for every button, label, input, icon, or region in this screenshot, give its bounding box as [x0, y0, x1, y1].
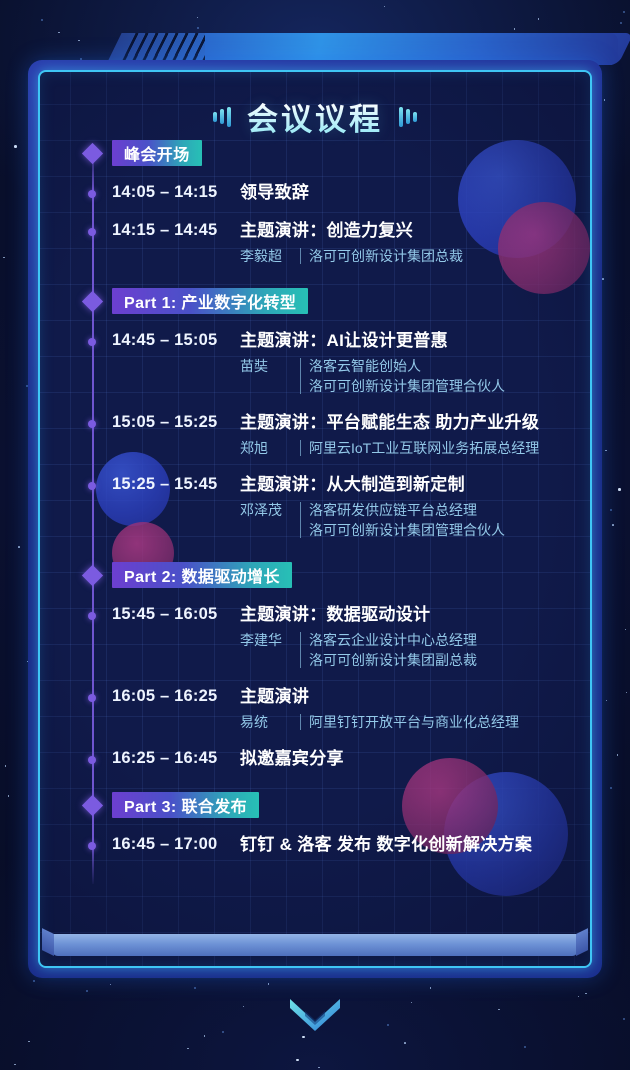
speaker-role: 洛客云智能创始人 — [309, 356, 590, 376]
speaker-role: 洛可可创新设计集团总裁 — [309, 246, 590, 266]
page-title-text: 会议议程 — [247, 94, 383, 139]
agenda-item-detail: 主题演讲：从大制造到新定制邓泽茂洛客研发供应链平台总经理洛可可创新设计集团管理合… — [240, 474, 590, 540]
agenda-item-topic: 主题演讲：从大制造到新定制 — [240, 474, 590, 496]
timeline-dot-icon — [88, 612, 96, 620]
agenda-item[interactable]: 14:05 – 14:15领导致辞 — [40, 182, 590, 204]
agenda-section: 峰会开场14:05 – 14:15领导致辞14:15 – 14:45主题演讲：创… — [40, 140, 590, 266]
timeline-dot-icon — [88, 228, 96, 236]
agenda-section: Part 2: 数据驱动增长15:45 – 16:05主题演讲：数据驱动设计李建… — [40, 562, 590, 770]
frame-base-ledge — [52, 934, 578, 956]
speaker-role: 阿里钉钉开放平台与商业化总经理 — [309, 712, 590, 732]
speaker-name: 易统 — [240, 712, 292, 732]
double-chevron-down-icon[interactable] — [286, 995, 344, 1042]
speaker-roles: 洛客研发供应链平台总经理洛可可创新设计集团管理合伙人 — [309, 500, 590, 540]
speaker-role: 洛可可创新设计集团管理合伙人 — [309, 520, 590, 540]
agenda-item-time: 14:05 – 14:15 — [112, 182, 240, 204]
section-label: Part 1: 产业数字化转型 — [112, 288, 308, 314]
speaker-roles: 洛客云企业设计中心总经理洛可可创新设计集团副总裁 — [309, 630, 590, 670]
agenda-item-detail: 主题演讲易统阿里钉钉开放平台与商业化总经理 — [240, 686, 590, 732]
agenda-item-detail: 主题演讲：平台赋能生态 助力产业升级郑旭阿里云IoT工业互联网业务拓展总经理 — [240, 412, 590, 458]
agenda-item-time: 14:15 – 14:45 — [112, 220, 240, 266]
agenda-item-time: 15:25 – 15:45 — [112, 474, 240, 540]
section-header[interactable]: Part 3: 联合发布 — [40, 792, 590, 818]
agenda-item-detail: 主题演讲：AI让设计更普惠苗奘洛客云智能创始人洛可可创新设计集团管理合伙人 — [240, 330, 590, 396]
speaker-separator — [300, 358, 301, 394]
timeline-dot-icon — [88, 420, 96, 428]
agenda-item-speaker: 李建华洛客云企业设计中心总经理洛可可创新设计集团副总裁 — [240, 630, 590, 670]
timeline-dot-icon — [88, 694, 96, 702]
timeline-dot-icon — [88, 482, 96, 490]
agenda-item-topic: 主题演讲：AI让设计更普惠 — [240, 330, 590, 352]
speaker-role: 洛客云企业设计中心总经理 — [309, 630, 590, 650]
speaker-role: 阿里云IoT工业互联网业务拓展总经理 — [309, 438, 590, 458]
agenda-frame: 会议议程 峰会开场14:05 – 14:15领导致辞14:15 – 14:45主… — [28, 60, 602, 978]
agenda-poster: 会议议程 峰会开场14:05 – 14:15领导致辞14:15 – 14:45主… — [0, 0, 630, 1070]
agenda-body: 峰会开场14:05 – 14:15领导致辞14:15 – 14:45主题演讲：创… — [40, 140, 590, 938]
speaker-separator — [300, 632, 301, 668]
agenda-item[interactable]: 16:45 – 17:00钉钉 & 洛客 发布 数字化创新解决方案 — [40, 834, 590, 856]
agenda-item[interactable]: 15:25 – 15:45主题演讲：从大制造到新定制邓泽茂洛客研发供应链平台总经… — [40, 474, 590, 540]
agenda-item[interactable]: 16:05 – 16:25主题演讲易统阿里钉钉开放平台与商业化总经理 — [40, 686, 590, 732]
agenda-item[interactable]: 15:45 – 16:05主题演讲：数据驱动设计李建华洛客云企业设计中心总经理洛… — [40, 604, 590, 670]
speaker-roles: 洛客云智能创始人洛可可创新设计集团管理合伙人 — [309, 356, 590, 396]
speaker-role: 洛可可创新设计集团副总裁 — [309, 650, 590, 670]
agenda-item-speaker: 易统阿里钉钉开放平台与商业化总经理 — [240, 712, 590, 732]
agenda-item-detail: 钉钉 & 洛客 发布 数字化创新解决方案 — [240, 834, 590, 856]
agenda-item-time: 15:05 – 15:25 — [112, 412, 240, 458]
section-label: Part 2: 数据驱动增长 — [112, 562, 292, 588]
page-title: 会议议程 — [40, 94, 590, 139]
speaker-separator — [300, 502, 301, 538]
speaker-name: 李毅超 — [240, 246, 292, 266]
agenda-item-detail: 主题演讲：创造力复兴李毅超洛可可创新设计集团总裁 — [240, 220, 590, 266]
speaker-separator — [300, 440, 301, 456]
agenda-item-speaker: 邓泽茂洛客研发供应链平台总经理洛可可创新设计集团管理合伙人 — [240, 500, 590, 540]
title-bars-left-icon — [213, 107, 231, 127]
timeline-dot-icon — [88, 190, 96, 198]
speaker-roles: 洛可可创新设计集团总裁 — [309, 246, 590, 266]
title-bars-right-icon — [399, 107, 417, 127]
agenda-item-detail: 领导致辞 — [240, 182, 590, 204]
agenda-item-time: 16:05 – 16:25 — [112, 686, 240, 732]
speaker-separator — [300, 714, 301, 730]
agenda-item-time: 14:45 – 15:05 — [112, 330, 240, 396]
timeline-dot-icon — [88, 842, 96, 850]
agenda-item-detail: 拟邀嘉宾分享 — [240, 748, 590, 770]
speaker-roles: 阿里钉钉开放平台与商业化总经理 — [309, 712, 590, 732]
diamond-marker-icon — [82, 142, 103, 163]
section-header[interactable]: Part 1: 产业数字化转型 — [40, 288, 590, 314]
agenda-item-topic: 主题演讲：数据驱动设计 — [240, 604, 590, 626]
diamond-marker-icon — [82, 290, 103, 311]
section-header[interactable]: 峰会开场 — [40, 140, 590, 166]
agenda-item-speaker: 苗奘洛客云智能创始人洛可可创新设计集团管理合伙人 — [240, 356, 590, 396]
agenda-item-topic: 主题演讲 — [240, 686, 590, 708]
agenda-item-time: 15:45 – 16:05 — [112, 604, 240, 670]
agenda-item-topic: 领导致辞 — [240, 182, 590, 204]
speaker-name: 李建华 — [240, 630, 292, 670]
agenda-frame-inner: 会议议程 峰会开场14:05 – 14:15领导致辞14:15 – 14:45主… — [38, 70, 592, 968]
agenda-section: Part 1: 产业数字化转型14:45 – 15:05主题演讲：AI让设计更普… — [40, 288, 590, 540]
speaker-name: 苗奘 — [240, 356, 292, 396]
timeline-dot-icon — [88, 338, 96, 346]
speaker-role: 洛可可创新设计集团管理合伙人 — [309, 376, 590, 396]
section-header[interactable]: Part 2: 数据驱动增长 — [40, 562, 590, 588]
agenda-item[interactable]: 14:15 – 14:45主题演讲：创造力复兴李毅超洛可可创新设计集团总裁 — [40, 220, 590, 266]
speaker-name: 邓泽茂 — [240, 500, 292, 540]
diamond-marker-icon — [82, 564, 103, 585]
diamond-marker-icon — [82, 794, 103, 815]
speaker-roles: 阿里云IoT工业互联网业务拓展总经理 — [309, 438, 590, 458]
agenda-item-speaker: 李毅超洛可可创新设计集团总裁 — [240, 246, 590, 266]
agenda-item-detail: 主题演讲：数据驱动设计李建华洛客云企业设计中心总经理洛可可创新设计集团副总裁 — [240, 604, 590, 670]
agenda-item-topic: 主题演讲：创造力复兴 — [240, 220, 590, 242]
agenda-sections: 峰会开场14:05 – 14:15领导致辞14:15 – 14:45主题演讲：创… — [40, 140, 590, 856]
speaker-role: 洛客研发供应链平台总经理 — [309, 500, 590, 520]
timeline-dot-icon — [88, 756, 96, 764]
agenda-item-time: 16:45 – 17:00 — [112, 834, 240, 856]
section-label: Part 3: 联合发布 — [112, 792, 259, 818]
agenda-item-topic: 主题演讲：平台赋能生态 助力产业升级 — [240, 412, 590, 434]
speaker-separator — [300, 248, 301, 264]
agenda-item[interactable]: 16:25 – 16:45拟邀嘉宾分享 — [40, 748, 590, 770]
speaker-name: 郑旭 — [240, 438, 292, 458]
section-label: 峰会开场 — [112, 140, 202, 166]
agenda-item[interactable]: 15:05 – 15:25主题演讲：平台赋能生态 助力产业升级郑旭阿里云IoT工… — [40, 412, 590, 458]
agenda-item-time: 16:25 – 16:45 — [112, 748, 240, 770]
agenda-section: Part 3: 联合发布16:45 – 17:00钉钉 & 洛客 发布 数字化创… — [40, 792, 590, 856]
agenda-item-speaker: 郑旭阿里云IoT工业互联网业务拓展总经理 — [240, 438, 590, 458]
agenda-item-topic: 钉钉 & 洛客 发布 数字化创新解决方案 — [240, 834, 590, 856]
agenda-item-topic: 拟邀嘉宾分享 — [240, 748, 590, 770]
agenda-item[interactable]: 14:45 – 15:05主题演讲：AI让设计更普惠苗奘洛客云智能创始人洛可可创… — [40, 330, 590, 396]
